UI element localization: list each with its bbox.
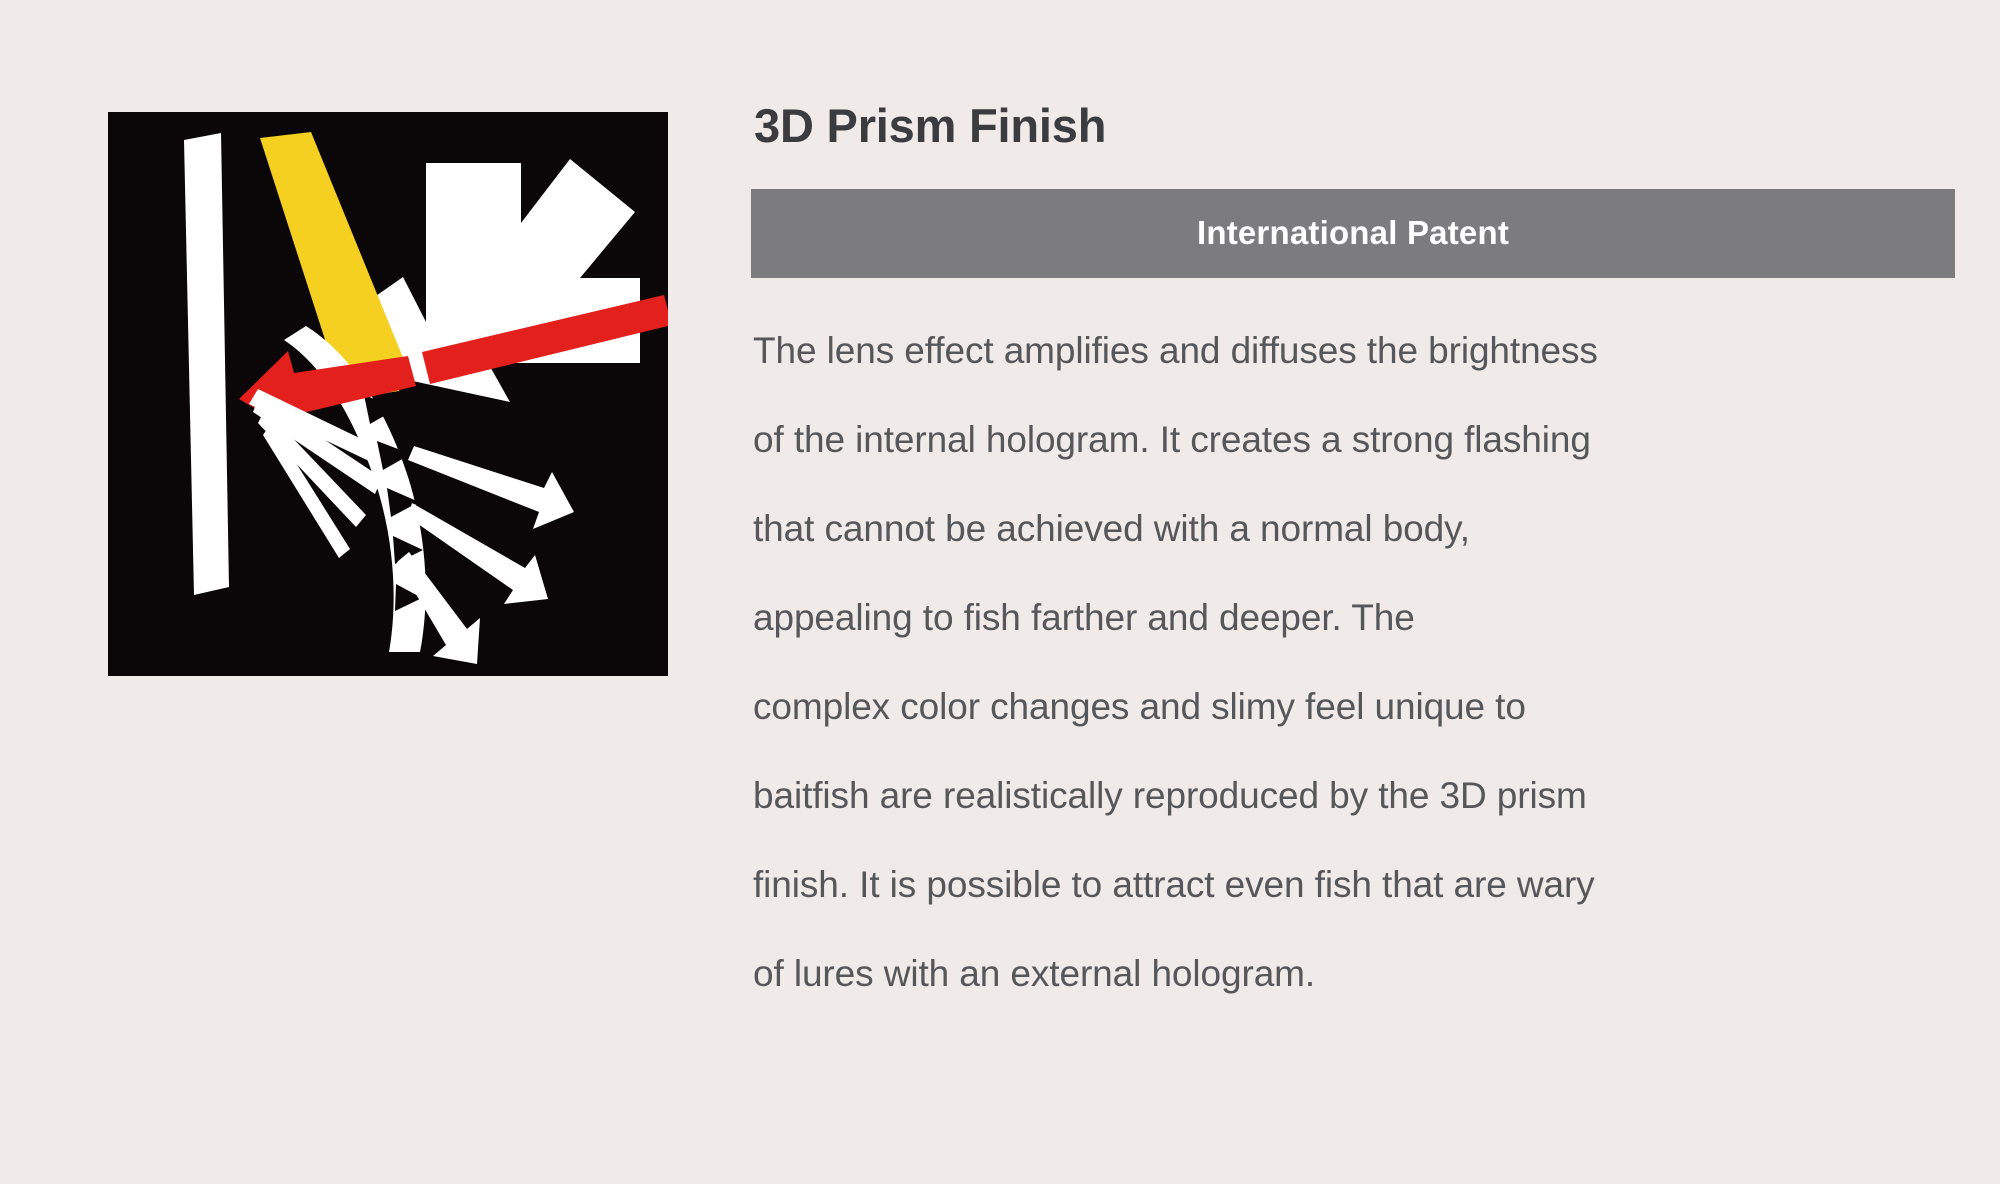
description-line: of the internal hologram. It creates a s… (753, 395, 1955, 484)
description-line: finish. It is possible to attract even f… (753, 840, 1955, 929)
page-title: 3D Prism Finish (751, 100, 1955, 153)
description-line: appealing to fish farther and deeper. Th… (753, 573, 1955, 662)
description-paragraph: The lens effect amplifies and diffuses t… (751, 306, 1955, 1018)
prism-diagram-figure (108, 112, 668, 676)
prism-diagram-svg (108, 112, 668, 676)
description-line: of lures with an external hologram. (753, 929, 1955, 1018)
status-badge-international-patent: International Patent (751, 189, 1955, 278)
description-line: complex color changes and slimy feel uni… (753, 662, 1955, 751)
description-line: that cannot be achieved with a normal bo… (753, 484, 1955, 573)
status-badge-label: International Patent (1197, 214, 1509, 252)
description-line: baitfish are realistically reproduced by… (753, 751, 1955, 840)
description-line: The lens effect amplifies and diffuses t… (753, 306, 1955, 395)
content-column: 3D Prism Finish International Patent The… (751, 100, 1955, 1018)
page-root: 3D Prism Finish International Patent The… (0, 0, 2000, 1184)
